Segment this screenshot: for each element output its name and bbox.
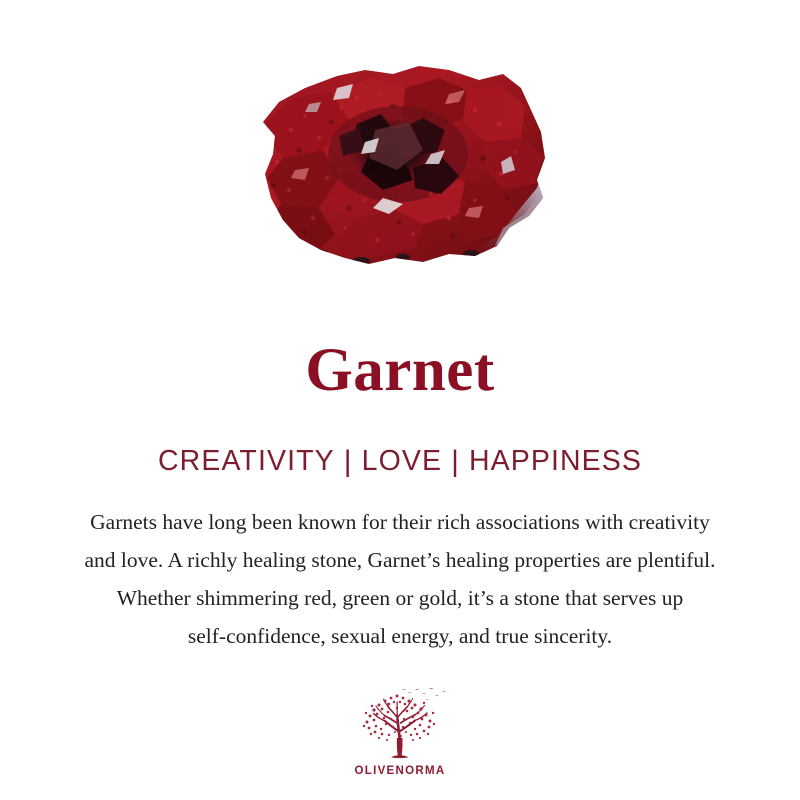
garnet-crystal-illustration (253, 58, 549, 270)
description-line: and love. A richly healing stone, Garnet… (0, 541, 800, 579)
hero-image-area (0, 0, 800, 310)
keyword-happiness: HAPPINESS (469, 445, 642, 477)
keyword-love: LOVE (362, 445, 442, 477)
birds (402, 688, 445, 700)
keyword-line: CREATIVITY|LOVE|HAPPINESS (0, 443, 800, 479)
garnet-crystal-image (253, 58, 549, 270)
keyword-separator: | (335, 444, 362, 480)
description-line: Whether shimmering red, green or gold, i… (0, 579, 800, 617)
olivenorma-tree-icon (345, 686, 455, 762)
page-title: Garnet (0, 336, 800, 406)
brand-logo: OLIVENORMA (345, 686, 455, 777)
brand-wordmark: OLIVENORMA (345, 765, 455, 777)
description-line: self-confidence, sexual energy, and true… (0, 617, 800, 655)
description-paragraph: Garnets have long been known for their r… (0, 503, 800, 655)
gemstone-info-card: Garnet CREATIVITY|LOVE|HAPPINESS Garnets… (0, 0, 800, 800)
keyword-separator: | (442, 444, 469, 480)
description-line: Garnets have long been known for their r… (0, 503, 800, 541)
keyword-creativity: CREATIVITY (158, 445, 335, 477)
